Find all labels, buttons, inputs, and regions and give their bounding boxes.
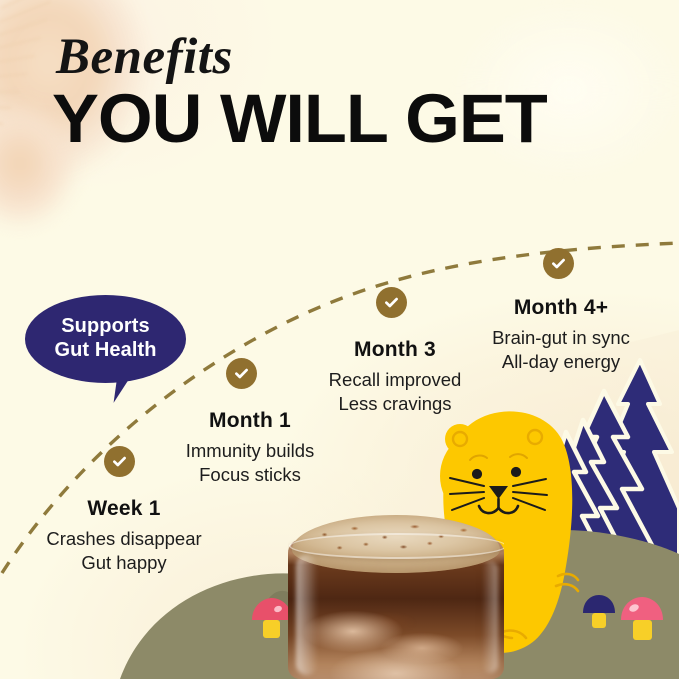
page-title: Benefits YOU WILL GET	[52, 33, 537, 150]
milestone-lines: Recall improved Less cravings	[300, 368, 490, 415]
milestone-month-4-plus: Month 4+ Brain-gut in sync All-day energ…	[463, 296, 659, 373]
milestone-line-1: Recall improved	[329, 369, 462, 390]
milestone-lines: Brain-gut in sync All-day energy	[463, 326, 659, 373]
check-circle-icon-month-3[interactable]	[376, 287, 407, 318]
bubble-line-1: Supports	[61, 315, 150, 337]
milestone-line-1: Immunity builds	[186, 440, 315, 461]
supports-gut-health-badge: Supports Gut Health	[25, 295, 186, 383]
headline-main: YOU WILL GET	[52, 87, 547, 150]
milestone-week-1: Week 1 Crashes disappear Gut happy	[29, 497, 219, 574]
milestone-title: Week 1	[29, 497, 219, 521]
milestone-title: Month 4+	[463, 296, 659, 320]
headline-script: Benefits	[56, 33, 537, 83]
check-circle-icon-week-1[interactable]	[104, 446, 135, 477]
milestone-line-2: Gut happy	[81, 552, 166, 573]
milestone-line-2: Less cravings	[338, 393, 451, 414]
bubble-line-2: Gut Health	[54, 339, 156, 361]
milestone-title: Month 3	[300, 338, 490, 362]
milestone-line-2: All-day energy	[502, 351, 620, 372]
milestone-line-1: Brain-gut in sync	[492, 327, 630, 348]
speech-bubble-text: Supports Gut Health	[54, 315, 156, 362]
milestone-month-3: Month 3 Recall improved Less cravings	[300, 338, 490, 415]
milestone-line-1: Crashes disappear	[46, 528, 201, 549]
milestone-line-2: Focus sticks	[199, 464, 301, 485]
milestone-month-1: Month 1 Immunity builds Focus sticks	[155, 409, 345, 486]
milestone-lines: Crashes disappear Gut happy	[29, 527, 219, 574]
milestone-lines: Immunity builds Focus sticks	[155, 439, 345, 486]
benefits-infographic-poster: Benefits YOU WILL GET Supports Gut Healt…	[0, 0, 679, 679]
check-circle-icon-month-4[interactable]	[543, 248, 574, 279]
check-circle-icon-month-1[interactable]	[226, 358, 257, 389]
